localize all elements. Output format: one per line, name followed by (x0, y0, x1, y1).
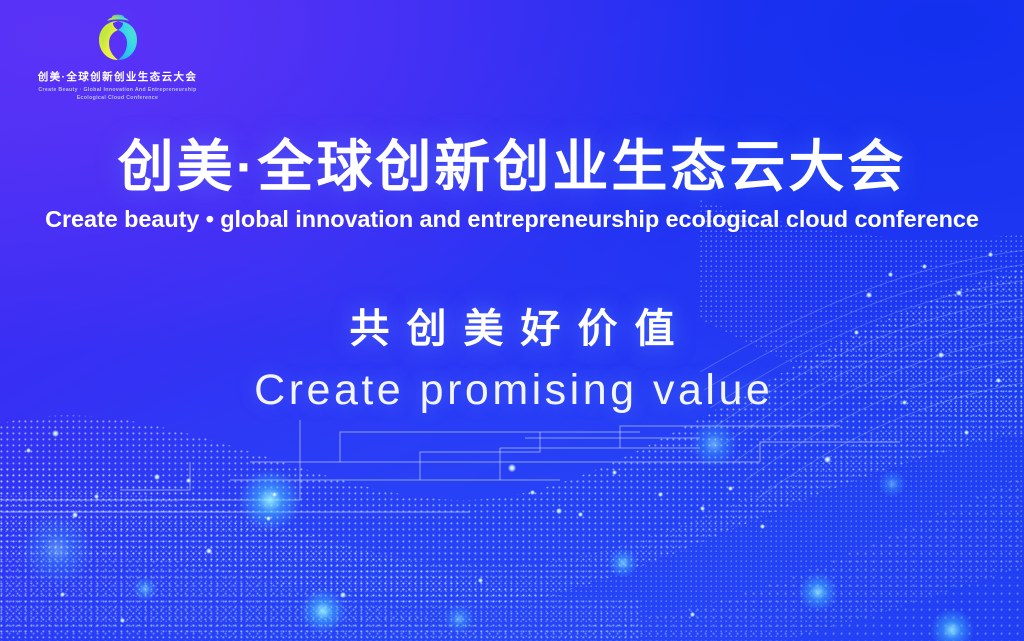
mesh-wave-left (0, 420, 680, 641)
particle (612, 470, 617, 475)
particle (26, 448, 31, 453)
particle (658, 492, 663, 497)
glow-point (690, 420, 738, 468)
particle (578, 512, 583, 517)
glow-point (132, 576, 158, 602)
particle (690, 612, 695, 617)
slogan-chinese: 共创美好价值 (0, 296, 1024, 354)
particle (988, 252, 993, 257)
particle (888, 272, 893, 277)
particle (530, 490, 535, 495)
particle (186, 478, 191, 483)
glow-point (300, 588, 346, 634)
conference-title-english: Create beauty • global innovation and en… (0, 206, 1024, 233)
glow-point (238, 468, 302, 532)
particle (700, 506, 705, 511)
globe-figures-emblem-icon (87, 8, 149, 68)
particle (72, 512, 78, 518)
circuit-line-highlights (10, 440, 1020, 516)
glow-point (930, 608, 974, 641)
conference-poster: 创美·全球创新创业生态云大会 Create Beauty · Global In… (0, 0, 1024, 641)
particle (266, 516, 271, 521)
particle (340, 592, 346, 598)
particle (60, 592, 65, 597)
slogan-block: 共创美好价值 Create promising value (0, 296, 1024, 415)
conference-logo: 创美·全球创新创业生态云大会 Create Beauty · Global In… (25, 8, 210, 102)
particle (508, 464, 516, 472)
particle (478, 578, 483, 583)
particle (964, 430, 969, 435)
particle (922, 264, 927, 269)
particle (824, 456, 831, 463)
conference-title-chinese: 创美·全球创新创业生态云大会 (0, 138, 1024, 197)
glow-point (444, 604, 474, 634)
particle (760, 524, 765, 529)
particle (206, 548, 212, 554)
headline-block: 创美·全球创新创业生态云大会 Create beauty • global in… (0, 138, 1024, 233)
logo-english-line-2: Ecological Cloud Conference (25, 94, 210, 102)
particle (154, 474, 160, 480)
slogan-english: Create promising value (0, 366, 1024, 415)
particle (728, 486, 733, 491)
particle (94, 494, 99, 499)
glow-point (608, 548, 638, 578)
glow-point (798, 572, 838, 612)
glow-point (20, 512, 94, 586)
logo-english-line-1: Create Beauty · Global Innovation And En… (25, 86, 210, 94)
logo-chinese-name: 创美·全球创新创业生态云大会 (25, 69, 210, 84)
circuit-lines (2, 420, 900, 512)
particle (272, 492, 277, 497)
mesh-wave-c (0, 450, 1024, 641)
particle (120, 618, 125, 623)
particle (52, 430, 59, 437)
glow-point (878, 470, 906, 498)
particle (556, 508, 562, 514)
